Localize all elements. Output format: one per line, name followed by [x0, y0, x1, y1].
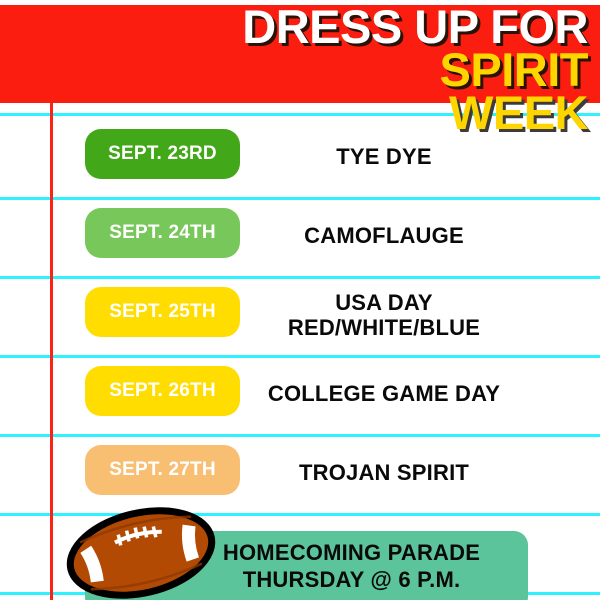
theme-label-line-1: COLLEGE GAME DAY — [268, 382, 500, 407]
theme-label-line-1: TYE DYE — [336, 145, 432, 170]
date-badge: SEPT. 26TH — [85, 366, 240, 416]
football-icon — [66, 507, 216, 599]
date-badge: SEPT. 23RD — [85, 129, 240, 179]
date-badge: SEPT. 25TH — [85, 287, 240, 337]
homecoming-line-1: HOMECOMING PARADE — [223, 540, 480, 567]
theme-label-line-2: RED/WHITE/BLUE — [288, 316, 480, 341]
schedule-row: SEPT. 25TH USA DAY RED/WHITE/BLUE — [0, 276, 600, 355]
theme-label: CAMOFLAUGE — [255, 197, 513, 276]
header-title-line-3: WEEK — [0, 91, 588, 134]
header-title: DRESS UP FOR SPIRIT WEEK — [0, 5, 600, 135]
theme-label: USA DAY RED/WHITE/BLUE — [255, 276, 513, 355]
theme-label: COLLEGE GAME DAY — [255, 355, 513, 434]
date-badge: SEPT. 24TH — [85, 208, 240, 258]
schedule-row: SEPT. 26TH COLLEGE GAME DAY — [0, 355, 600, 434]
header-title-line-2: SPIRIT — [0, 48, 588, 91]
homecoming-line-2: THURSDAY @ 6 P.M. — [243, 567, 461, 594]
header-title-line-1: DRESS UP FOR — [0, 5, 588, 48]
schedule-row: SEPT. 27TH TROJAN SPIRIT — [0, 434, 600, 513]
homecoming-text: HOMECOMING PARADE THURSDAY @ 6 P.M. — [175, 531, 528, 600]
theme-label-line-1: CAMOFLAUGE — [304, 224, 464, 249]
spirit-week-poster: DRESS UP FOR SPIRIT WEEK SEPT. 23RD TYE … — [0, 0, 600, 600]
theme-label-line-1: TROJAN SPIRIT — [299, 461, 469, 486]
schedule-row: SEPT. 24TH CAMOFLAUGE — [0, 197, 600, 276]
theme-label: TROJAN SPIRIT — [255, 434, 513, 513]
theme-label-line-1: USA DAY — [335, 291, 433, 316]
date-badge: SEPT. 27TH — [85, 445, 240, 495]
